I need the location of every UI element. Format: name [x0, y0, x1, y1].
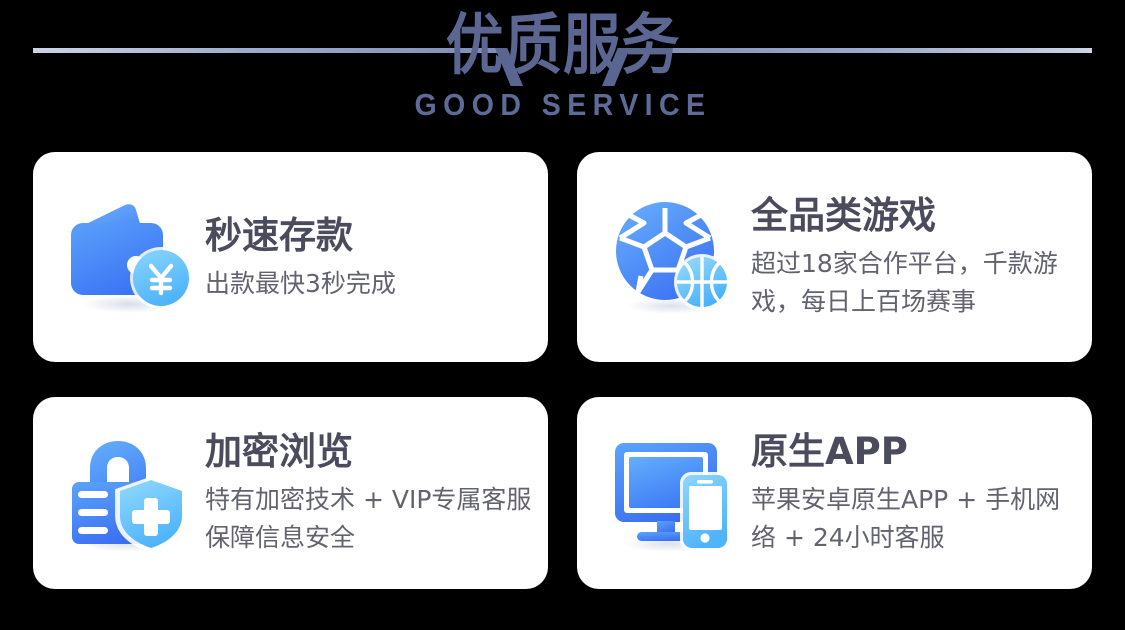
- wallet-yen-icon: [63, 192, 193, 322]
- card-title: 加密浏览: [205, 429, 532, 475]
- card-title: 全品类游戏: [751, 193, 1076, 239]
- soccer-basketball-icon: [607, 192, 737, 322]
- page-subtitle: GOOD SERVICE: [342, 87, 784, 123]
- feature-card-text: 加密浏览 特有加密技术 + VIP专属客服保障信息安全: [205, 429, 532, 557]
- page-title: 优质服务: [339, 4, 785, 87]
- header-titles: 优质服务 GOOD SERVICE: [323, 6, 803, 123]
- card-description: 超过18家合作平台，千款游戏，每日上百场赛事: [751, 245, 1076, 321]
- card-description: 特有加密技术 + VIP专属客服保障信息安全: [205, 481, 532, 557]
- banner-header: 优质服务 GOOD SERVICE: [0, 0, 1125, 148]
- feature-card-native-app[interactable]: 原生APP 苹果安卓原生APP + 手机网络 + 24小时客服: [577, 397, 1092, 589]
- feature-card-encryption[interactable]: 加密浏览 特有加密技术 + VIP专属客服保障信息安全: [33, 397, 548, 589]
- card-title: 秒速存款: [205, 213, 532, 259]
- card-description: 出款最快3秒完成: [205, 265, 532, 302]
- card-title: 原生APP: [751, 429, 1076, 475]
- lock-shield-icon: [63, 428, 193, 558]
- feature-card-text: 秒速存款 出款最快3秒完成: [205, 213, 532, 302]
- card-description: 苹果安卓原生APP + 手机网络 + 24小时客服: [751, 481, 1076, 557]
- feature-card-deposit[interactable]: 秒速存款 出款最快3秒完成: [33, 152, 548, 362]
- monitor-phone-icon: [607, 428, 737, 558]
- feature-card-games[interactable]: 全品类游戏 超过18家合作平台，千款游戏，每日上百场赛事: [577, 152, 1092, 362]
- feature-card-text: 全品类游戏 超过18家合作平台，千款游戏，每日上百场赛事: [751, 193, 1076, 321]
- promo-banner: 优质服务 GOOD SERVICE: [0, 0, 1125, 630]
- feature-card-grid: 秒速存款 出款最快3秒完成: [33, 152, 1092, 589]
- feature-card-text: 原生APP 苹果安卓原生APP + 手机网络 + 24小时客服: [751, 429, 1076, 557]
